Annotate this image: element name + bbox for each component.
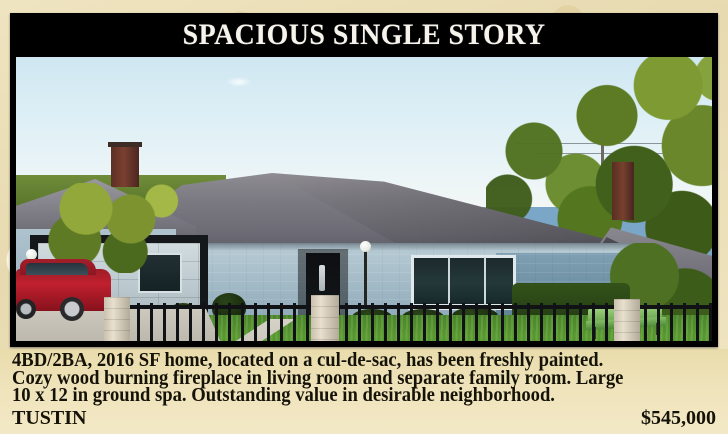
description-text: 4BD/2BA, 2016 SF home, located on a cul-… (12, 352, 716, 405)
fence-pillar (104, 297, 130, 341)
car-wheel (60, 297, 84, 321)
price-label: $545,000 (641, 408, 716, 428)
fence-pillar (311, 295, 339, 341)
car-window (26, 263, 88, 275)
fence-pillar (614, 299, 640, 341)
property-photo: 13536 (16, 57, 712, 341)
lamp-post (364, 249, 367, 307)
real-estate-ad-page: SPACIOUS SINGLE STORY (0, 0, 728, 434)
chimney-cap (108, 142, 142, 147)
description-line-3: 10 x 12 in ground spa. Outstanding value… (12, 387, 684, 405)
chimney-left (111, 145, 139, 187)
listing-footer: TUSTIN $545,000 (12, 408, 716, 428)
ad-card-frame: SPACIOUS SINGLE STORY (10, 13, 718, 347)
page-title: SPACIOUS SINGLE STORY (183, 20, 546, 50)
picture-window (411, 255, 516, 307)
title-bar: SPACIOUS SINGLE STORY (10, 13, 718, 57)
sun-flare (226, 77, 252, 87)
lamp-globe (360, 241, 371, 252)
car-wheel (16, 299, 36, 319)
chimney-right (612, 162, 634, 220)
door-glass-panel (319, 265, 325, 291)
window-mullion (484, 257, 486, 305)
city-label: TUSTIN (12, 408, 86, 428)
window-mullion (448, 257, 450, 305)
